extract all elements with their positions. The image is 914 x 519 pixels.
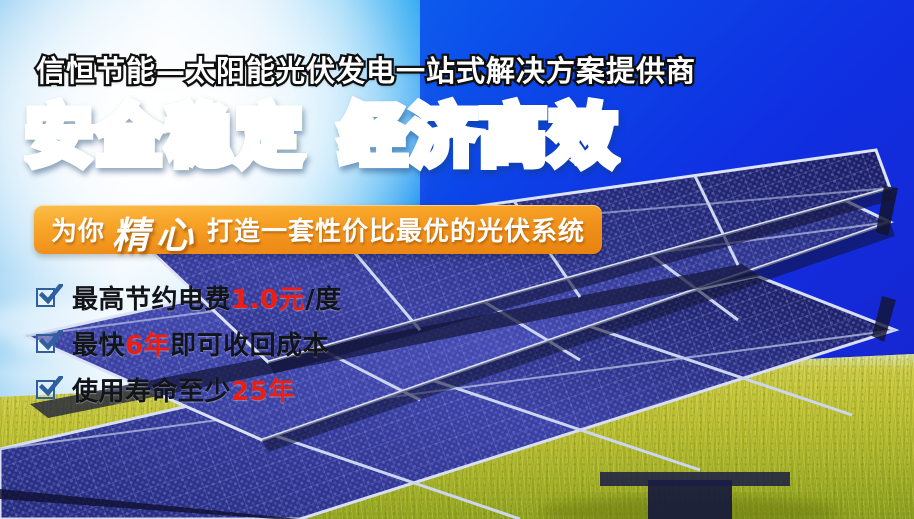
benefit-text-highlight: 6年 [125,325,170,362]
hero-slogan: 安全稳定经济高效 [26,104,620,170]
ribbon-prefix-text: 为你 [51,211,105,248]
page-title: 信恒节能—太阳能光伏发电一站式解决方案提供商 [36,48,696,90]
benefit-text-highlight: 1.0元 [231,279,305,316]
hero-slogan-green: 安全稳定 [26,98,306,175]
subtitle-ribbon: 为你 精心 打造一套性价比最优的光伏系统 [34,205,602,254]
benefit-text-pre: 最高节约电费 [72,279,231,316]
benefit-text-pre: 最快 [72,325,125,362]
checkbox-checked-icon [36,378,58,400]
checkbox-checked-icon [36,286,58,308]
ribbon-brush-text: 精心 [105,205,207,259]
list-item: 最快6年即可收回成本 [36,320,342,366]
checkbox-checked-icon [36,332,58,354]
solar-energy-promo-banner: 信恒节能—太阳能光伏发电一站式解决方案提供商 安全稳定经济高效 为你 精心 打造… [0,0,914,519]
benefit-text-highlight: 25年 [231,371,295,408]
benefit-text-pre: 使用寿命至少 [72,371,231,408]
hero-slogan-blue: 经济高效 [340,98,620,175]
benefits-list: 最高节约电费1.0元/度 最快6年即可收回成本 使用寿命至少25年 [36,274,342,412]
benefit-text-post: 即可收回成本 [170,325,329,362]
array-torque-tube [872,186,898,342]
array-support-structure [540,472,840,519]
ribbon-suffix-text: 打造一套性价比最优的光伏系统 [207,211,585,248]
list-item: 使用寿命至少25年 [36,366,342,412]
benefit-text-post: /度 [305,279,342,316]
list-item: 最高节约电费1.0元/度 [36,274,342,320]
